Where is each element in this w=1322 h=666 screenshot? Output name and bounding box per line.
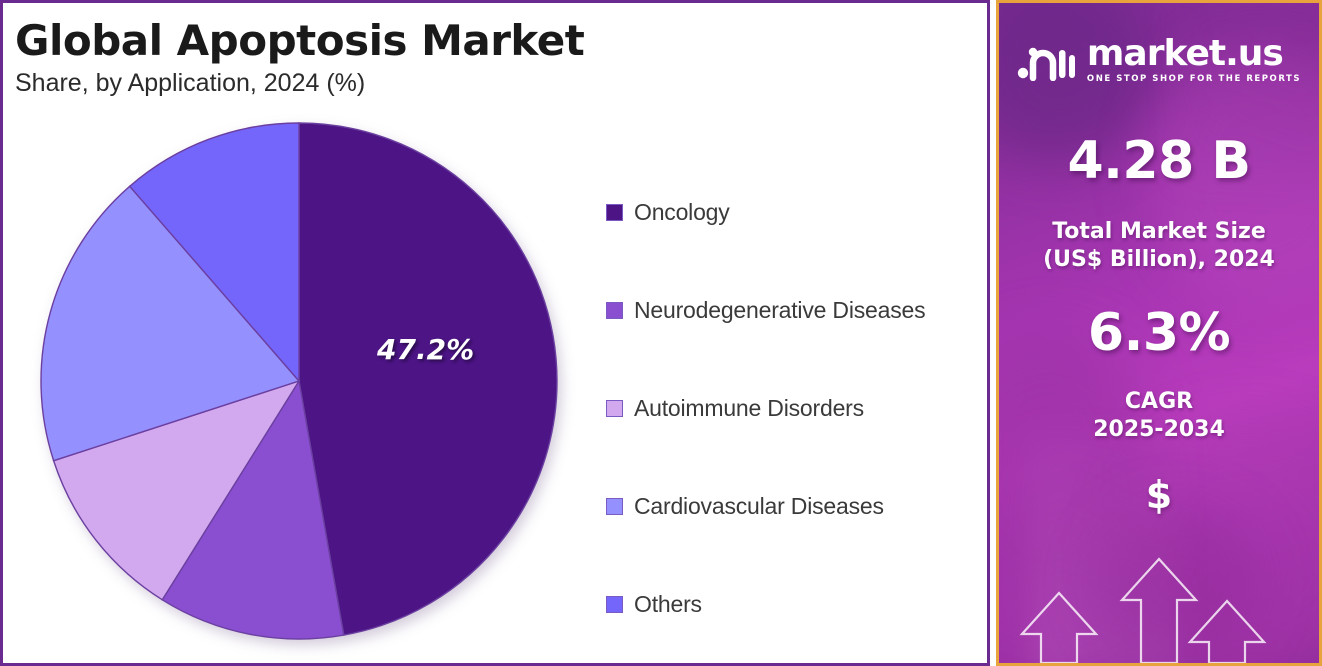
growth-arrows-icon — [999, 463, 1322, 663]
chart-panel: Global Apoptosis Market Share, by Applic… — [0, 0, 990, 666]
legend-swatch — [606, 498, 623, 515]
legend-label: Neurodegenerative Diseases — [634, 297, 925, 324]
market-size-caption-line1: Total Market Size — [1052, 219, 1266, 244]
market-us-logo-icon — [1017, 41, 1075, 81]
infographic-page: Global Apoptosis Market Share, by Applic… — [0, 0, 1322, 666]
pie-data-label-oncology: 47.2% — [377, 333, 474, 366]
pie-slices — [39, 121, 559, 641]
legend-label: Oncology — [634, 199, 730, 226]
page-subtitle: Share, by Application, 2024 (%) — [15, 69, 584, 98]
cagr-value: 6.3% — [999, 303, 1319, 363]
legend-swatch — [606, 204, 623, 221]
legend-item[interactable]: Others — [606, 555, 976, 653]
brand-logo: market.us ONE STOP SHOP FOR THE REPORTS — [999, 37, 1319, 84]
cagr-caption-line1: CAGR — [1125, 389, 1193, 414]
cagr-caption-line2: 2025-2034 — [1093, 417, 1225, 442]
market-size-caption: Total Market Size (US$ Billion), 2024 — [999, 218, 1319, 273]
legend-swatch — [606, 302, 623, 319]
logo-wordmark: market.us — [1087, 37, 1283, 71]
page-title: Global Apoptosis Market — [15, 19, 584, 63]
market-size-value: 4.28 B — [999, 131, 1319, 191]
legend-swatch — [606, 596, 623, 613]
title-block: Global Apoptosis Market Share, by Applic… — [15, 19, 584, 98]
legend-label: Autoimmune Disorders — [634, 395, 864, 422]
logo-tagline: ONE STOP SHOP FOR THE REPORTS — [1087, 74, 1301, 84]
legend-item[interactable]: Autoimmune Disorders — [606, 359, 976, 457]
legend-swatch — [606, 400, 623, 417]
cagr-caption: CAGR 2025-2034 — [999, 388, 1319, 443]
legend-item[interactable]: Neurodegenerative Diseases — [606, 261, 976, 359]
legend-item[interactable]: Cardiovascular Diseases — [606, 457, 976, 555]
legend-item[interactable]: Oncology — [606, 163, 976, 261]
legend-label: Cardiovascular Diseases — [634, 493, 884, 520]
chart-legend: OncologyNeurodegenerative DiseasesAutoim… — [606, 163, 976, 653]
logo-text-block: market.us ONE STOP SHOP FOR THE REPORTS — [1087, 37, 1301, 84]
market-size-caption-line2: (US$ Billion), 2024 — [1043, 247, 1275, 272]
pie-chart: 47.2% — [39, 121, 559, 641]
legend-label: Others — [634, 591, 702, 618]
stats-panel: market.us ONE STOP SHOP FOR THE REPORTS … — [996, 0, 1322, 666]
pie-slice[interactable] — [299, 123, 557, 635]
